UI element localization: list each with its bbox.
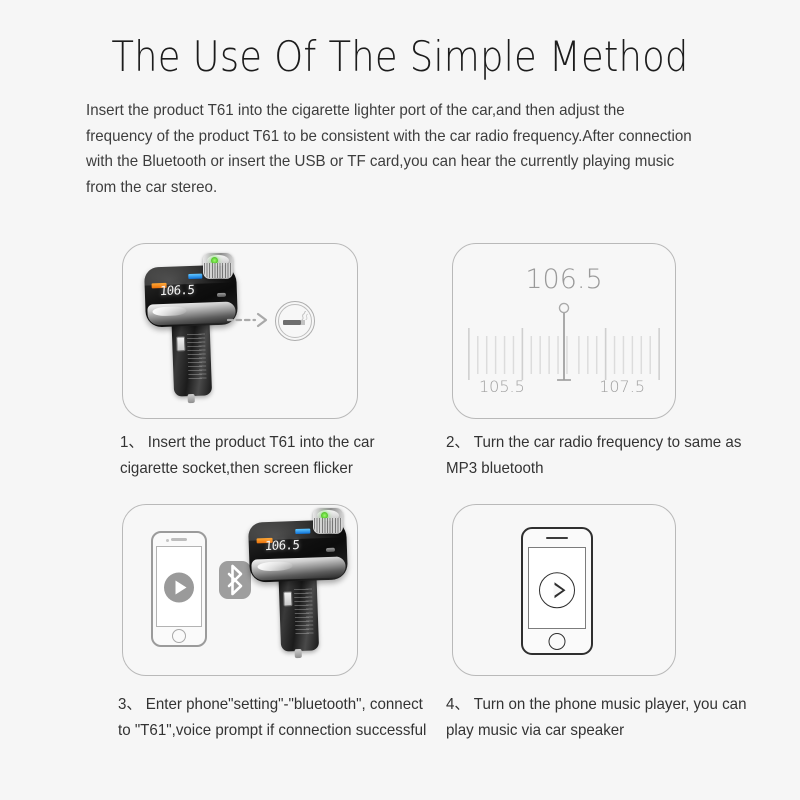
step-4-caption: 4、 Turn on the phone music player, you c…: [446, 692, 747, 744]
device-chrome-band: [147, 301, 236, 325]
dashed-arrow-icon: [227, 312, 273, 328]
device-frequency-readout: 106.5: [264, 537, 300, 553]
device-frequency-readout: 106.5: [159, 282, 195, 298]
tuner-label-upper-frequency: 107.5: [599, 377, 645, 396]
device-blue-indicator: [295, 528, 310, 533]
device-barrel-label: [187, 334, 207, 381]
cigarette-lighter-socket-icon: [275, 301, 315, 341]
device-chrome-band: [251, 556, 346, 580]
step-1-number: 1、: [120, 434, 144, 451]
step-3-caption-text: Enter phone"setting"-"bluetooth", connec…: [118, 696, 426, 739]
tuner-current-frequency: 106.5: [453, 264, 675, 295]
cigarette-tip: [301, 320, 305, 325]
step-4-caption-text: Turn on the phone music player, you can …: [446, 696, 746, 739]
phone-home-button: [549, 633, 566, 650]
step-2-caption-text: Turn the car radio frequency to same as …: [446, 434, 741, 477]
chrome-highlight: [153, 306, 187, 316]
tuner-label-lower-frequency: 105.5: [479, 377, 525, 396]
step-1-illustration-panel: 106.5: [122, 243, 358, 419]
knob-ridges: [204, 263, 232, 278]
phone-home-button: [172, 629, 186, 643]
device-side-button: [326, 547, 335, 551]
step-4-number: 4、: [446, 696, 470, 713]
play-icon: [164, 573, 194, 603]
device-blue-indicator: [188, 273, 202, 278]
device-side-button: [217, 292, 226, 296]
fm-transmitter-device-icon: 106.5: [249, 521, 347, 661]
step-3-number: 3、: [118, 696, 142, 713]
infographic-page: The Use Of The Simple Method Insert the …: [0, 0, 800, 800]
intro-paragraph: Insert the product T61 into the cigarett…: [86, 98, 695, 200]
page-title: The Use Of The Simple Method: [48, 32, 752, 81]
step-4-illustration-panel: [452, 504, 676, 676]
phone-speaker-slot: [171, 538, 187, 541]
fm-transmitter-device-icon: 106.5: [145, 266, 237, 398]
step-1-caption-text: Insert the product T61 into the car ciga…: [120, 434, 375, 477]
knob-ridges: [314, 518, 342, 533]
phone-camera-dot: [166, 539, 169, 542]
step-2-illustration-panel: 106.5: [452, 243, 676, 419]
cigarette-body: [283, 320, 301, 325]
smartphone-icon: [521, 527, 593, 655]
step-1-caption: 1、 Insert the product T61 into the car c…: [120, 430, 430, 482]
device-screen: 106.5: [264, 535, 314, 555]
device-volume-knob-icon: [203, 253, 233, 279]
usb-port-icon: [176, 336, 186, 351]
chrome-highlight: [257, 561, 293, 571]
step-3-illustration-panel: 106.5: [122, 504, 358, 676]
usb-port-icon: [283, 591, 293, 606]
step-2-number: 2、: [446, 434, 470, 451]
device-barrel: [171, 317, 212, 396]
smartphone-icon: [151, 531, 207, 647]
device-volume-knob-icon: [313, 508, 343, 534]
step-2-caption: 2、 Turn the car radio frequency to same …: [446, 430, 747, 482]
bluetooth-glyph: [219, 561, 251, 599]
step-3-caption: 3、 Enter phone"setting"-"bluetooth", con…: [118, 692, 438, 744]
device-screen: 106.5: [159, 280, 206, 300]
play-icon: [539, 572, 575, 608]
device-barrel-label: [294, 589, 314, 636]
radio-tuner-graphic: 106.5: [453, 244, 675, 418]
device-barrel: [278, 572, 319, 651]
bluetooth-icon: [219, 561, 251, 599]
smoke-icon: [299, 311, 311, 321]
